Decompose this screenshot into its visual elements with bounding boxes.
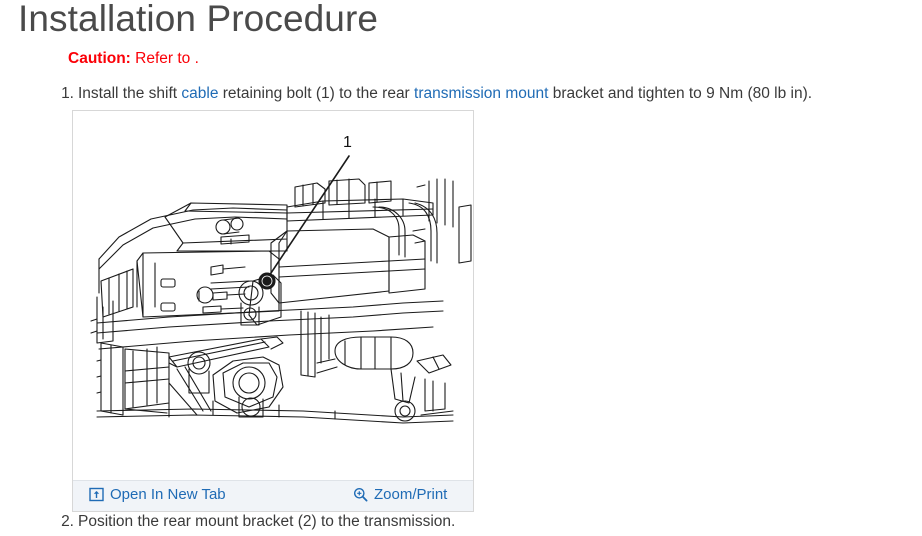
step-item: 1. Install the shift cable retaining bol… bbox=[0, 84, 922, 104]
zoom-print-label: Zoom/Print bbox=[374, 486, 447, 503]
step-text: Install the shift cable retaining bolt (… bbox=[78, 85, 812, 102]
step-item: 2. Position the rear mount bracket (2) t… bbox=[0, 512, 922, 532]
procedure-steps: 1. Install the shift cable retaining bol… bbox=[0, 84, 922, 104]
link-transmission-mount[interactable]: transmission mount bbox=[414, 85, 548, 102]
caution-notice: Caution: Refer to . bbox=[68, 50, 199, 68]
figure-image[interactable]: 1 bbox=[73, 111, 473, 479]
step-text: Position the rear mount bracket (2) to t… bbox=[78, 513, 455, 530]
open-in-new-tab-label: Open In New Tab bbox=[110, 486, 226, 503]
procedure-steps-continued: 2. Position the rear mount bracket (2) t… bbox=[0, 512, 922, 532]
page-title: Installation Procedure bbox=[18, 0, 378, 40]
step-number: 2. bbox=[52, 512, 74, 532]
procedure-page: Installation Procedure Caution: Refer to… bbox=[0, 0, 922, 536]
caution-text: Refer to . bbox=[131, 50, 199, 67]
open-in-new-tab-button[interactable]: Open In New Tab bbox=[89, 486, 226, 503]
svg-text:1: 1 bbox=[343, 134, 352, 151]
open-in-new-tab-icon bbox=[89, 487, 104, 502]
step-text-segment: Install the shift bbox=[78, 85, 181, 102]
step-number: 1. bbox=[52, 84, 74, 104]
magnifier-plus-icon bbox=[353, 487, 368, 502]
zoom-print-button[interactable]: Zoom/Print bbox=[353, 486, 447, 503]
step-text-segment: retaining bolt (1) to the rear bbox=[218, 85, 414, 102]
caution-label: Caution: bbox=[68, 50, 131, 67]
link-cable[interactable]: cable bbox=[181, 85, 218, 102]
step-text-segment: bracket and tighten to 9 Nm (80 lb in). bbox=[548, 85, 812, 102]
figure-container: 1 bbox=[72, 110, 474, 512]
figure-toolbar: Open In New Tab Zoom/Print bbox=[73, 480, 473, 511]
